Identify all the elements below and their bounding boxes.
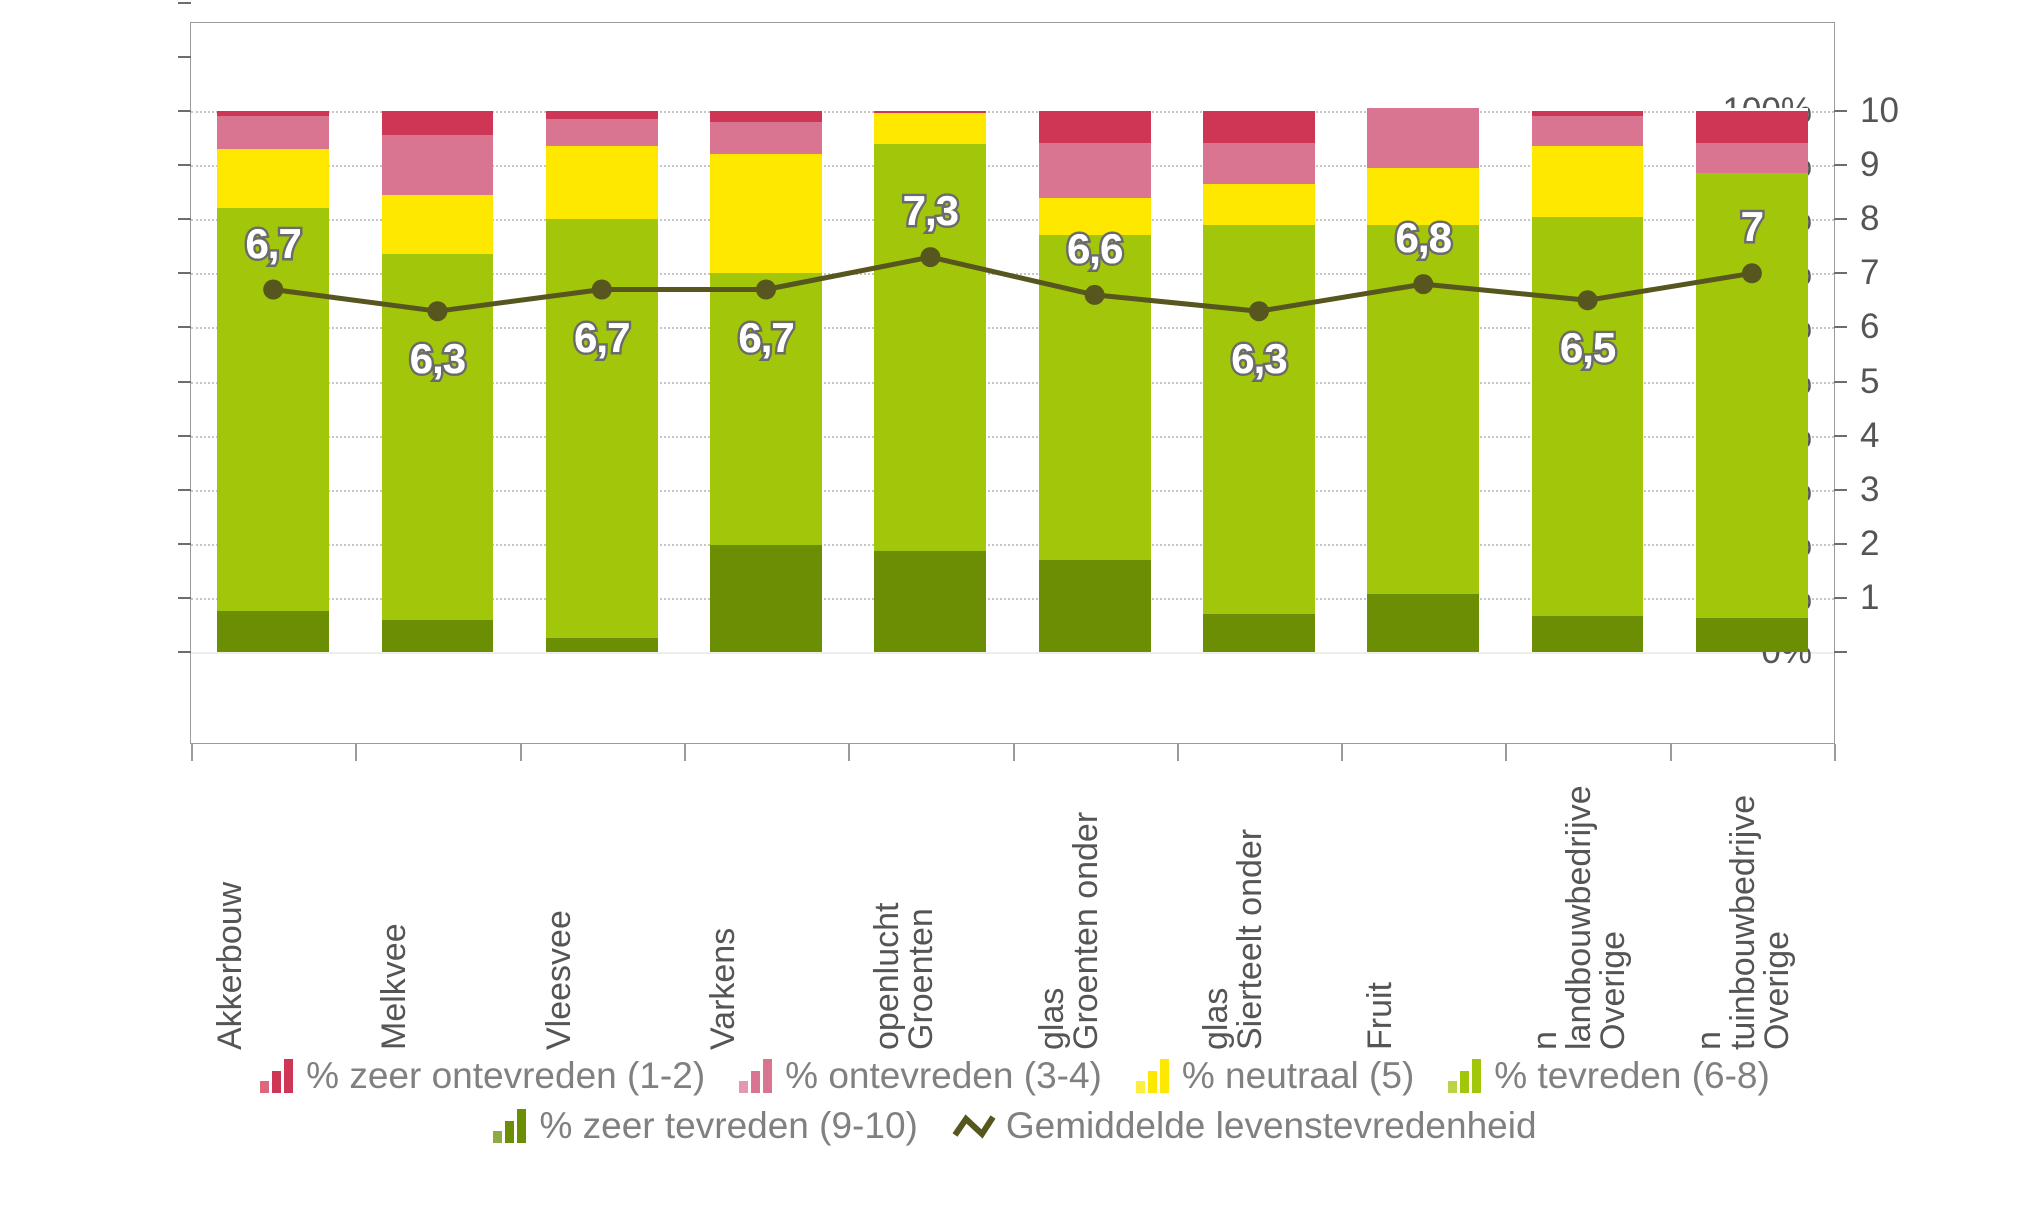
x-axis-tick [355,744,357,761]
line-marker[interactable] [1578,290,1598,310]
x-axis-category-label: Vleesvee [542,760,576,1050]
y-axis-left-tick [178,651,191,653]
x-axis-tick [684,744,686,761]
line-value-label: 6,86,8 [1396,214,1451,262]
y-axis-right-tick [1834,543,1847,545]
x-axis-category-label: Overigetuinbouwbedrijven [1692,760,1794,1050]
gridline-baseline [191,652,1834,654]
legend-item[interactable]: % zeer ontevreden (1-2) [260,1055,705,1097]
y-axis-right-tick [1834,489,1847,491]
y-axis-left-tick [178,489,191,491]
zigzag-line-icon [952,1111,996,1141]
line-value-label: 77 [1741,203,1763,251]
mini-bars-icon [1136,1059,1172,1093]
y-axis-right-tick-label: 5 [1860,362,1879,402]
x-axis-label-line: tuinbouwbedrijve [1726,760,1760,1050]
line-value-label: 6,76,7 [738,314,793,362]
y-axis-right-tick [1834,326,1847,328]
y-axis-right-tick-label: 8 [1860,199,1879,239]
x-axis-label-line: Akkerbouw [213,760,247,1050]
x-axis-label-line: Varkens [706,760,740,1050]
x-axis-tick [1834,744,1836,761]
y-axis-right-tick-label: 9 [1860,145,1879,185]
legend-item-label: % ontevreden (3-4) [785,1055,1102,1097]
x-axis-tick [1670,744,1672,761]
x-axis-category-label: Groenten onderglas [1035,760,1103,1050]
plot-data-area: 0%10%20%30%40%50%60%70%80%90%100%1234567… [191,111,1834,652]
y-axis-left-tick [178,56,191,58]
x-axis-category-label: Overigelandbouwbedrijven [1528,760,1630,1050]
y-axis-right-tick [1834,435,1847,437]
line-value-label: 6,36,3 [410,335,465,383]
line-path [273,257,1752,311]
y-axis-right-tick-label: 4 [1860,416,1879,456]
x-axis-category-label: Groentenopenlucht [870,760,938,1050]
x-axis-category-label: Varkens [706,760,740,1050]
y-axis-right-tick [1834,597,1847,599]
mini-bars-icon [739,1059,775,1093]
y-axis-right-tick-label: 1 [1860,578,1879,618]
legend-item-label: % zeer tevreden (9-10) [539,1105,917,1147]
legend-item-label: % neutraal (5) [1182,1055,1414,1097]
x-axis-label-line: Overige [1596,760,1630,1050]
y-axis-left-tick [178,435,191,437]
line-value-label: 6,76,7 [245,220,300,268]
x-axis-label-line: landbouwbedrijve [1562,760,1596,1050]
x-axis-label-line: glas [1035,760,1069,1050]
x-axis-label-line: n [1528,760,1562,1050]
legend-item[interactable]: % zeer tevreden (9-10) [493,1105,917,1147]
line-marker[interactable] [920,247,940,267]
y-axis-right-tick [1834,381,1847,383]
y-axis-right-tick [1834,164,1847,166]
mini-bars-icon [493,1109,529,1143]
y-axis-left-tick [178,218,191,220]
line-value-label: 6,36,3 [1231,335,1286,383]
line-marker[interactable] [1742,263,1762,283]
legend-item-label: % zeer ontevreden (1-2) [306,1055,705,1097]
mini-bars-icon [260,1059,296,1093]
legend-item[interactable]: % ontevreden (3-4) [739,1055,1102,1097]
line-value-label: 6,56,5 [1560,324,1615,372]
legend-item[interactable]: Gemiddelde levenstevredenheid [952,1105,1537,1147]
x-axis-label-line: Overige [1760,760,1794,1050]
legend-row-secondary: % zeer tevreden (9-10)Gemiddelde levenst… [0,1105,2030,1147]
x-axis-label-line: glas [1199,760,1233,1050]
x-axis-tick [1505,744,1507,761]
line-marker[interactable] [1249,301,1269,321]
x-axis-tick [1013,744,1015,761]
line-marker[interactable] [263,280,283,300]
x-axis-label-line: Melkvee [377,760,411,1050]
x-axis-tick [520,744,522,761]
line-value-label: 6,66,6 [1067,225,1122,273]
y-axis-left-tick [178,272,191,274]
y-axis-right-tick-label: 3 [1860,470,1879,510]
x-axis-label-line: Fruit [1363,760,1397,1050]
x-axis-label-line: Groenten [904,760,938,1050]
x-axis-tick [848,744,850,761]
y-axis-right-tick [1834,651,1847,653]
y-axis-left-tick [178,164,191,166]
x-axis-category-label: Akkerbouw [213,760,247,1050]
y-axis-left-tick [178,326,191,328]
x-axis-label-line: Sierteelt onder [1233,760,1267,1050]
line-marker[interactable] [592,280,612,300]
y-axis-right-tick-label: 6 [1860,307,1879,347]
x-axis-category-label: Fruit [1363,760,1397,1050]
x-axis-label-line: Groenten onder [1069,760,1103,1050]
x-axis-label-line: Vleesvee [542,760,576,1050]
y-axis-left-tick [178,381,191,383]
y-axis-left-tick [178,110,191,112]
legend-row-primary: % zeer ontevreden (1-2)% ontevreden (3-4… [0,1055,2030,1097]
legend-item[interactable]: % neutraal (5) [1136,1055,1414,1097]
y-axis-right-tick [1834,218,1847,220]
legend-item-label: Gemiddelde levenstevredenheid [1006,1105,1537,1147]
x-axis-category-label: Melkvee [377,760,411,1050]
x-axis-category-label: Sierteelt onderglas [1199,760,1267,1050]
chart-legend: % zeer ontevreden (1-2)% ontevreden (3-4… [0,1055,2030,1155]
y-axis-left-tick [178,2,191,4]
y-axis-right-tick [1834,110,1847,112]
line-marker[interactable] [428,301,448,321]
y-axis-left-tick [178,597,191,599]
y-axis-right-tick-label: 7 [1860,253,1879,293]
y-axis-right-tick-label: 10 [1860,91,1899,131]
legend-item[interactable]: % tevreden (6-8) [1448,1055,1770,1097]
y-axis-right-tick [1834,272,1847,274]
line-value-label: 7,37,3 [903,187,958,235]
x-axis-label-line: openlucht [870,760,904,1050]
x-axis-tick [1177,744,1179,761]
line-marker[interactable] [1085,285,1105,305]
mini-bars-icon [1448,1059,1484,1093]
x-axis-label-line: n [1692,760,1726,1050]
line-value-label: 6,76,7 [574,314,629,362]
line-marker[interactable] [756,280,776,300]
line-marker[interactable] [1413,274,1433,294]
y-axis-left-tick [178,543,191,545]
legend-item-label: % tevreden (6-8) [1494,1055,1770,1097]
x-axis-tick [1341,744,1343,761]
y-axis-right-tick-label: 2 [1860,524,1879,564]
stacked-bar-chart: 0%10%20%30%40%50%60%70%80%90%100%1234567… [0,0,2030,1229]
x-axis-tick [191,744,193,761]
